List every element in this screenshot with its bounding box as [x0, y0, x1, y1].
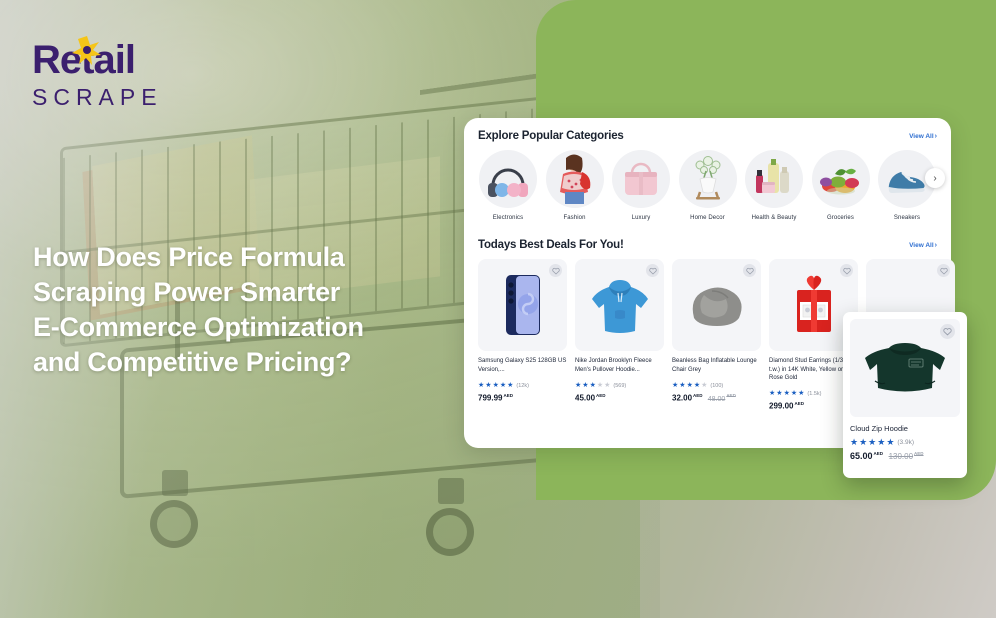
category-image-fashion: [546, 150, 604, 208]
product-price: 799.99AED: [478, 393, 567, 403]
category-image-groceries: [812, 150, 870, 208]
headline-line-1: How Does Price Formula: [33, 240, 453, 275]
product-review-count: (1.5k): [807, 391, 821, 397]
product-price: 45.00AED: [575, 393, 664, 403]
starburst-icon: [70, 34, 104, 68]
category-label-home-decor: Home Decor: [678, 215, 738, 221]
star-icon: ★: [877, 438, 885, 447]
category-item-home-decor[interactable]: Home Decor: [678, 150, 738, 221]
heart-icon: [649, 267, 657, 275]
star-icon: ★: [776, 390, 782, 397]
heart-icon: [943, 327, 952, 336]
headline-line-2: Scraping Power Smarter: [33, 275, 453, 310]
featured-product-title: Cloud Zip Hoodie: [850, 424, 960, 435]
product-price-value: 45.00: [575, 394, 595, 403]
heart-icon: [940, 267, 948, 275]
handbag-icon: [619, 159, 663, 199]
product-rating: ★★★★★ (569): [575, 382, 664, 389]
star-icon: ★: [784, 390, 790, 397]
product-image-hoodie-blue: [575, 259, 664, 351]
category-label-groceries: Groceries: [811, 215, 871, 221]
star-icon-half: ★: [507, 382, 513, 389]
heart-icon: [552, 267, 560, 275]
star-icon: ★: [868, 438, 876, 447]
chevron-right-icon: ›: [935, 133, 937, 140]
star-icon: ★: [791, 390, 797, 397]
product-currency: AED: [596, 393, 606, 398]
product-title: Nike Jordan Brooklyn Fleece Men's Pullov…: [575, 357, 664, 379]
wishlist-button[interactable]: [937, 264, 950, 277]
vase-plant-icon: [686, 155, 730, 203]
star-icon-half: ★: [886, 438, 894, 447]
product-price-value: 299.00: [769, 402, 793, 411]
wishlist-button[interactable]: [743, 264, 756, 277]
chevron-right-icon: ›: [935, 242, 937, 249]
product-currency: AED: [794, 401, 804, 406]
star-icon-empty: ★: [597, 382, 603, 389]
star-icon: ★: [679, 382, 685, 389]
star-icon: ★: [478, 382, 484, 389]
star-icon: ★: [694, 382, 700, 389]
category-image-home-decor: [679, 150, 737, 208]
star-icon: ★: [859, 438, 867, 447]
product-review-count: (12k): [516, 383, 529, 389]
categories-view-all-label: View All: [909, 133, 934, 140]
featured-product-review-count: (3.9k): [897, 439, 914, 446]
category-label-electronics: Electronics: [478, 215, 538, 221]
category-image-health-beauty: [745, 150, 803, 208]
product-image-hoodie-green: [850, 319, 960, 417]
product-currency: AED: [503, 393, 513, 398]
deals-view-all-link[interactable]: View All›: [909, 242, 937, 249]
product-card[interactable]: Samsung Galaxy S25 128GB US Version,... …: [478, 259, 567, 411]
category-label-fashion: Fashion: [545, 215, 605, 221]
logo-wordmark-primary: Retail: [32, 40, 135, 80]
categories-header: Explore Popular Categories View All›: [478, 130, 937, 142]
product-price: 32.00AED 48.00AED: [672, 393, 761, 403]
hoodie-blue-image: [587, 275, 653, 335]
headline-line-4: and Competitive Pricing?: [33, 345, 453, 380]
product-rating: ★★★★★ (100): [672, 382, 761, 389]
wishlist-button[interactable]: [840, 264, 853, 277]
logo-text-scrape: SCRAPE: [32, 86, 212, 109]
category-label-sneakers: Sneakers: [877, 215, 937, 221]
category-item-groceries[interactable]: Groceries: [811, 150, 871, 221]
headline-line-3: E-Commerce Optimization: [33, 310, 453, 345]
product-rating: ★★★★★ (12k): [478, 382, 567, 389]
deals-title: Todays Best Deals For You!: [478, 239, 624, 251]
heart-icon: [746, 267, 754, 275]
category-item-luxury[interactable]: Luxury: [611, 150, 671, 221]
wishlist-button[interactable]: [646, 264, 659, 277]
deals-header: Todays Best Deals For You! View All›: [478, 239, 937, 251]
featured-price-value: 65.00: [850, 451, 873, 461]
page-title: How Does Price Formula Scraping Power Sm…: [33, 240, 453, 380]
sneaker-icon: [883, 163, 931, 195]
star-icon: ★: [672, 382, 678, 389]
star-icon-half: ★: [798, 390, 804, 397]
categories-title: Explore Popular Categories: [478, 130, 624, 142]
featured-currency: AED: [874, 451, 884, 456]
star-icon: ★: [590, 382, 596, 389]
product-currency: AED: [693, 393, 703, 398]
star-icon: ★: [575, 382, 581, 389]
wishlist-button[interactable]: [940, 324, 955, 339]
category-label-luxury: Luxury: [611, 215, 671, 221]
headphones-icon: [485, 159, 531, 199]
product-price-value: 799.99: [478, 394, 502, 403]
star-icon: ★: [850, 438, 858, 447]
deals-view-all-label: View All: [909, 242, 934, 249]
chevron-right-icon: ›: [933, 173, 936, 184]
star-icon-empty: ★: [701, 382, 707, 389]
hoodie-dark-green-image: [861, 337, 949, 399]
product-card[interactable]: Beanless Bag Inflatable Lounge Chair Gre…: [672, 259, 761, 411]
star-icon-empty: ★: [604, 382, 610, 389]
category-label-health-beauty: Health & Beauty: [744, 215, 804, 221]
product-image-smartphone: [478, 259, 567, 351]
categories-next-button[interactable]: ›: [925, 168, 945, 188]
product-old-price: 48.00AED: [708, 396, 736, 403]
smartphone-blue-image: [502, 273, 544, 337]
star-icon: ★: [582, 382, 588, 389]
heart-icon: [843, 267, 851, 275]
category-item-electronics[interactable]: Electronics: [478, 150, 538, 221]
featured-product-price: 65.00AED 130.00AED: [850, 451, 960, 461]
product-image-beanbag: [672, 259, 761, 351]
star-icon: ★: [769, 390, 775, 397]
vegetables-icon: [817, 162, 865, 196]
brand-logo: Retail SCRAPE: [32, 40, 212, 109]
product-review-count: (569): [613, 383, 626, 389]
featured-old-price: 130.00AED: [889, 452, 924, 461]
cosmetics-icon: [750, 157, 798, 201]
featured-product-rating: ★★★★★ (3.9k): [850, 438, 960, 447]
fashion-model-icon: [555, 150, 595, 208]
star-icon: ★: [687, 382, 693, 389]
category-item-fashion[interactable]: Fashion: [545, 150, 605, 221]
beanbag-grey-image: [682, 278, 752, 332]
category-image-electronics: [479, 150, 537, 208]
wishlist-button[interactable]: [549, 264, 562, 277]
star-icon: ★: [493, 382, 499, 389]
product-price-value: 32.00: [672, 394, 692, 403]
product-title: Samsung Galaxy S25 128GB US Version,...: [478, 357, 567, 379]
gift-box-earrings-image: [787, 272, 841, 338]
category-item-health-beauty[interactable]: Health & Beauty: [744, 150, 804, 221]
star-icon: ★: [500, 382, 506, 389]
star-icon: ★: [485, 382, 491, 389]
product-review-count: (100): [710, 383, 723, 389]
featured-product-card[interactable]: Cloud Zip Hoodie ★★★★★ (3.9k) 65.00AED 1…: [843, 312, 967, 478]
product-title: Beanless Bag Inflatable Lounge Chair Gre…: [672, 357, 761, 379]
category-image-luxury: [612, 150, 670, 208]
categories-view-all-link[interactable]: View All›: [909, 133, 937, 140]
product-card[interactable]: Nike Jordan Brooklyn Fleece Men's Pullov…: [575, 259, 664, 411]
categories-list: Electronics Fashion: [478, 150, 937, 221]
